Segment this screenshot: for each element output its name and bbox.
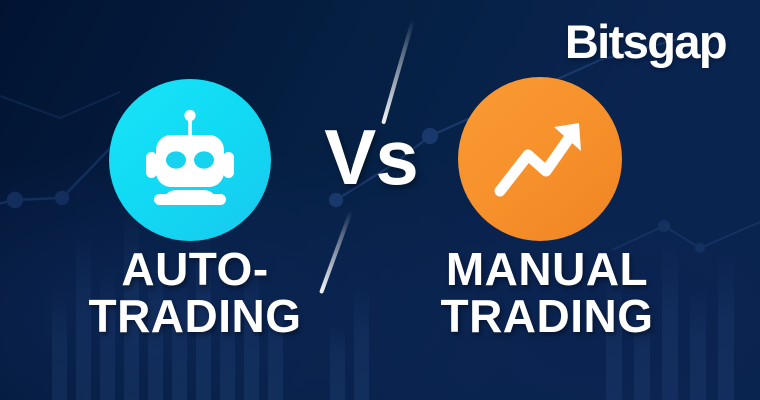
auto-trading-caption-line-1: AUTO-: [30, 246, 360, 293]
bitsgap-logo: Bitsgap: [565, 18, 726, 65]
manual-trading-caption-line-2: TRADING: [392, 293, 702, 340]
robot-icon: [135, 105, 245, 215]
auto-trading-caption-line-2: TRADING: [30, 293, 360, 340]
auto-trading-badge: [109, 79, 271, 241]
divider-slash-top: [381, 20, 415, 125]
manual-trading-caption: MANUAL TRADING: [392, 246, 702, 341]
manual-trading-badge: [458, 77, 622, 241]
trending-up-arrow-icon: [488, 107, 592, 211]
manual-trading-caption-line-1: MANUAL: [392, 246, 702, 293]
versus-label: Vs: [318, 118, 424, 196]
bitsgap-versus-banner: Vs Bitsgap AUTO- TRADING MANUAL TRADING: [0, 0, 760, 400]
auto-trading-caption: AUTO- TRADING: [30, 246, 360, 341]
